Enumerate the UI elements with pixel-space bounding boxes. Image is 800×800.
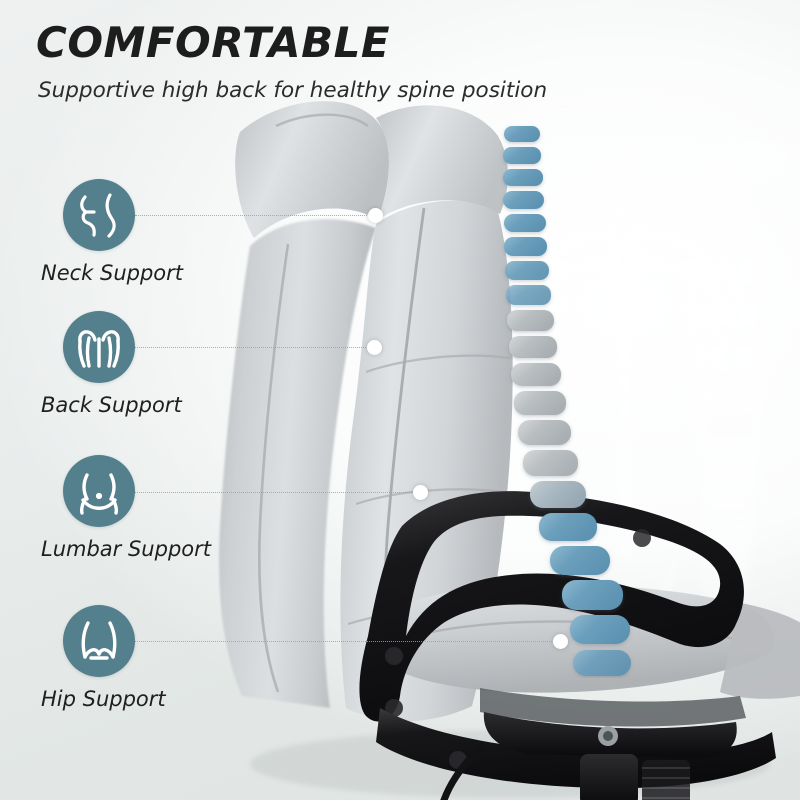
leader-line-lumbar bbox=[135, 492, 420, 494]
leader-line-hip bbox=[135, 641, 560, 643]
callout-dot-hip bbox=[553, 634, 568, 649]
infographic-canvas: COMFORTABLE Supportive high back for hea… bbox=[0, 0, 800, 800]
hip-pelvis-icon bbox=[63, 605, 135, 677]
callout-dot-neck bbox=[368, 208, 383, 223]
feature-label-hip: Hip Support bbox=[41, 687, 166, 711]
leader-line-neck bbox=[135, 215, 375, 217]
callout-dot-lumbar bbox=[413, 485, 428, 500]
feature-label-neck: Neck Support bbox=[41, 261, 183, 285]
upper-back-torso-icon bbox=[63, 311, 135, 383]
callout-dot-back bbox=[367, 340, 382, 355]
page-title: COMFORTABLE bbox=[36, 18, 390, 67]
lumbar-waist-icon bbox=[63, 455, 135, 527]
feature-label-lumbar: Lumbar Support bbox=[41, 537, 211, 561]
leader-line-back bbox=[135, 347, 374, 349]
feature-label-back: Back Support bbox=[41, 393, 182, 417]
neck-profile-icon bbox=[63, 179, 135, 251]
page-subtitle: Supportive high back for healthy spine p… bbox=[38, 78, 547, 103]
spine-vertebrae-graphic bbox=[462, 118, 662, 678]
